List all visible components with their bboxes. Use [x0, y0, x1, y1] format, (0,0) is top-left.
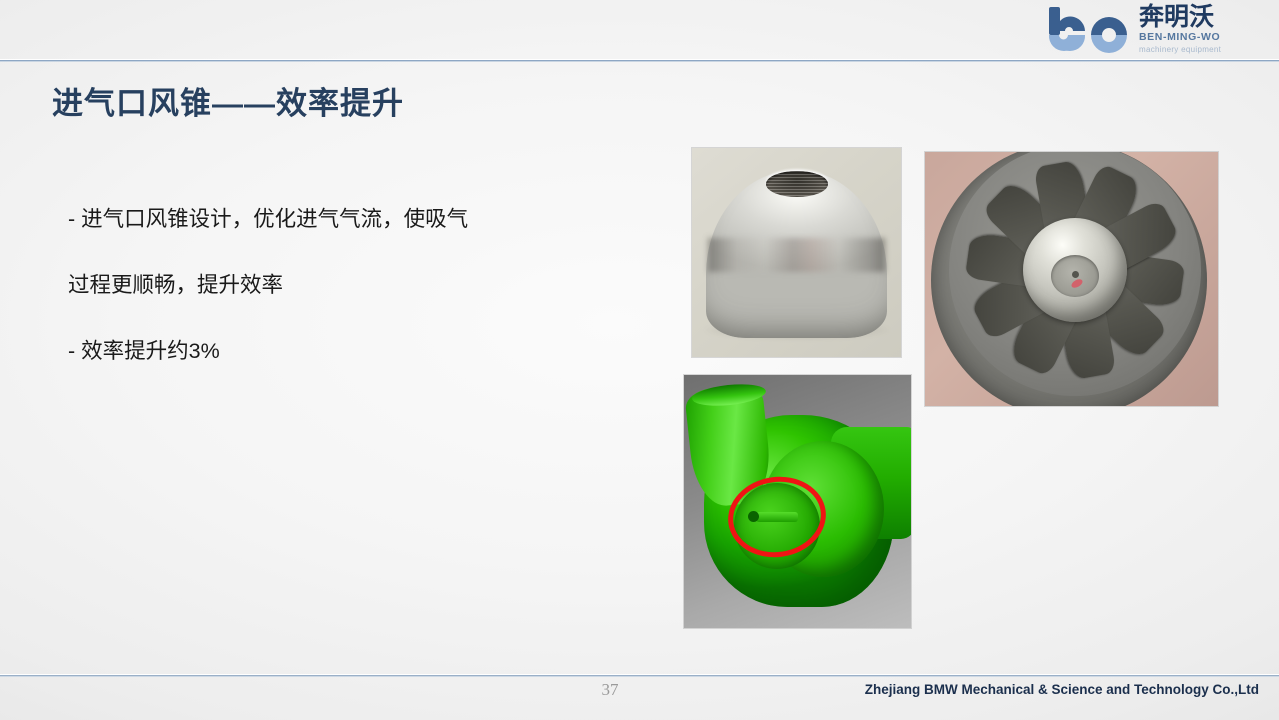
logo-text-block: 奔明沃 BEN-MING-WO machinery equipment	[1139, 3, 1263, 57]
impeller-hub-face	[1051, 255, 1099, 297]
body-text-block: - 进气口风锥设计，优化进气气流，使吸气 过程更顺畅，提升效率 - 效率提升约3…	[68, 186, 628, 384]
body-line-3: - 效率提升约3%	[68, 318, 628, 384]
impeller-hub-marker	[1070, 277, 1084, 289]
intake-cone-photo	[692, 148, 901, 357]
footer-company-name: Zhejiang BMW Mechanical & Science and Te…	[865, 682, 1259, 697]
cone-threaded-hole	[766, 171, 828, 197]
impeller-hub-bolt	[1072, 271, 1079, 278]
cone-thread-texture	[766, 171, 828, 197]
page-title: 进气口风锥——效率提升	[52, 78, 404, 123]
logo-english-name: BEN-MING-WO	[1139, 31, 1263, 44]
impeller-center-cone	[1023, 218, 1127, 322]
impeller-with-cone-photo	[925, 152, 1218, 406]
logo-tagline: machinery equipment	[1139, 44, 1263, 55]
page-number: 37	[590, 680, 630, 700]
cone-reflection-band	[708, 238, 885, 272]
header-divider	[0, 59, 1279, 62]
body-line-1: - 进气口风锥设计，优化进气气流，使吸气	[68, 186, 628, 252]
body-line-2: 过程更顺畅，提升效率	[68, 252, 628, 318]
impeller-backplate	[931, 152, 1207, 406]
company-logo: 奔明沃 BEN-MING-WO machinery equipment	[1045, 3, 1261, 57]
footer-divider	[0, 674, 1279, 677]
presentation-slide: 奔明沃 BEN-MING-WO machinery equipment 进气口风…	[0, 0, 1279, 720]
logo-chinese-name: 奔明沃	[1139, 3, 1263, 31]
impeller-rim	[949, 152, 1201, 396]
cad-blower-model-photo	[684, 375, 911, 628]
bo-lettermark-icon	[1045, 5, 1149, 55]
